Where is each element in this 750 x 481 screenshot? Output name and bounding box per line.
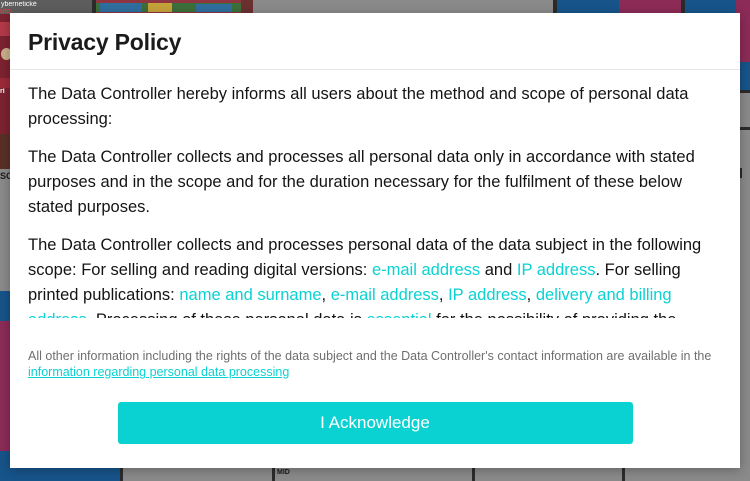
policy-text-3d: , (322, 286, 331, 304)
bg-block-top-3 (251, 0, 555, 14)
acknowledge-button[interactable]: I Acknowledge (118, 402, 633, 444)
screen: ybernetické uto ybernetické uto (0, 0, 750, 481)
dialog-note: All other information including the righ… (10, 318, 740, 380)
term-email-address-2: e-mail address (331, 286, 439, 304)
term-ip-address-1: IP address (517, 261, 596, 279)
personal-data-processing-link[interactable]: information regarding personal data proc… (28, 365, 289, 379)
policy-text-3f: , (527, 286, 536, 304)
privacy-policy-dialog: Privacy Policy The Data Controller hereb… (10, 13, 740, 468)
bg-label-mid: MID (277, 469, 290, 477)
policy-paragraph-1: The Data Controller hereby informs all u… (28, 82, 722, 132)
bg-block-top-5 (619, 0, 750, 14)
dialog-note-text: All other information including the righ… (28, 349, 711, 363)
background-top-band: ybernetické uto (0, 0, 750, 14)
term-essential: essential (366, 311, 431, 318)
policy-paragraph-2: The Data Controller collects and process… (28, 145, 722, 220)
bg-cover-thumb-top (96, 0, 241, 14)
dialog-body: The Data Controller hereby informs all u… (10, 70, 740, 318)
bg-block-top-4 (557, 0, 619, 14)
term-email-address-1: e-mail address (372, 261, 480, 279)
policy-text-3g: . Processing of these personal data is (87, 311, 367, 318)
bg-block-top-2 (241, 0, 251, 14)
policy-text-3b: and (480, 261, 517, 279)
policy-paragraph-3: The Data Controller collects and process… (28, 233, 722, 318)
dialog-header: Privacy Policy (10, 13, 740, 70)
dialog-footer: I Acknowledge (10, 380, 740, 468)
bg-label-ri: rí (0, 88, 5, 96)
policy-text-3e: , (439, 286, 448, 304)
dialog-title: Privacy Policy (28, 29, 722, 56)
term-ip-address-2: IP address (448, 286, 527, 304)
term-name-and-surname: name and surname (179, 286, 321, 304)
